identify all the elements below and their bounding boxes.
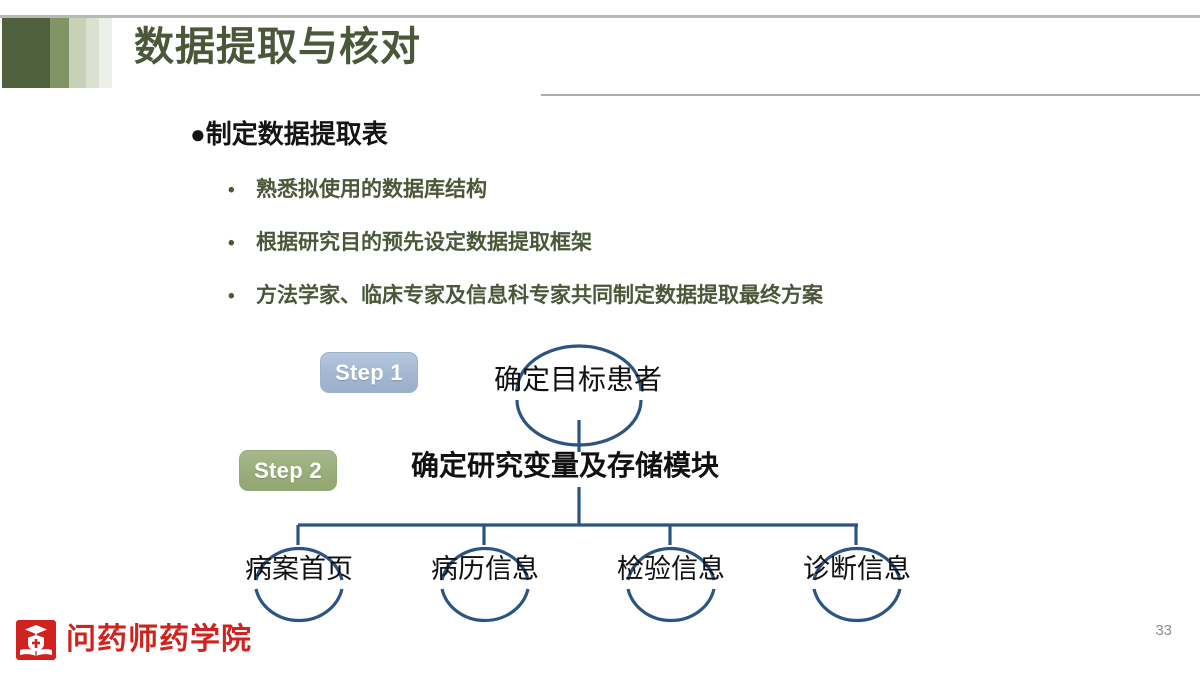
slide-canvas: 数据提取与核对 ●制定数据提取表 • 熟悉拟使用的数据库结构 • 根据研究目的预… xyxy=(0,0,1200,675)
arc-bottom-leaf-3 xyxy=(628,589,714,621)
page-number: 33 xyxy=(1155,622,1172,639)
diagram-leaf-1: 病案首页 xyxy=(209,551,389,587)
diagram-node-step2: 确定研究变量及存储模块 xyxy=(385,448,745,484)
diagram-leaf-2: 病历信息 xyxy=(395,551,575,587)
step-1-badge[interactable]: Step 1 xyxy=(320,352,418,393)
academy-crest-icon xyxy=(16,620,56,660)
brand-name: 问药师药学院 xyxy=(66,621,252,659)
arc-bottom-leaf-2 xyxy=(442,589,528,621)
arc-bottom-leaf-4 xyxy=(814,589,900,621)
arc-bottom-leaf-1 xyxy=(256,589,342,621)
diagram-node-root: 确定目标患者 xyxy=(468,362,688,398)
academy-crest-glyph xyxy=(16,620,56,660)
diagram-leaf-3: 检验信息 xyxy=(581,551,761,587)
step-2-badge[interactable]: Step 2 xyxy=(239,450,337,491)
diagram-leaf-4: 诊断信息 xyxy=(767,551,947,587)
brand-logo: 问药师药学院 xyxy=(16,620,252,660)
